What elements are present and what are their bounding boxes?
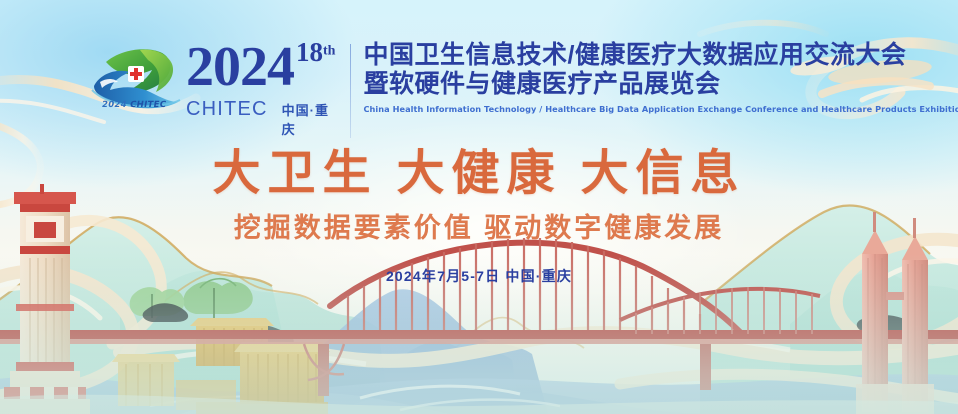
slogan-sub: 挖掘数据要素价值 驱动数字健康发展 bbox=[0, 212, 958, 244]
chitec-logo: 2024 CHITEC bbox=[86, 40, 182, 128]
date-location: 2024年7月5-7日 中国·重庆 bbox=[0, 266, 958, 286]
banner-header: 2024 CHITEC 2024 18th CHITEC 中国·重庆 中国卫生信… bbox=[86, 40, 958, 138]
year-number: 2024 bbox=[186, 42, 294, 92]
slogan-block: 大卫生 大健康 大信息 挖掘数据要素价值 驱动数字健康发展 bbox=[0, 146, 958, 244]
brand-cn: 中国·重庆 bbox=[282, 100, 336, 138]
title-line-1: 中国卫生信息技术/健康医疗大数据应用交流大会 bbox=[363, 41, 958, 70]
header-divider bbox=[350, 44, 352, 138]
logo-caption-name: CHITEC bbox=[129, 100, 167, 110]
year-block: 2024 18th CHITEC 中国·重庆 bbox=[186, 40, 336, 138]
title-english: China Health Information Technology / He… bbox=[363, 104, 958, 114]
logo-caption: 2024 CHITEC bbox=[87, 100, 181, 110]
edition-number: 18 bbox=[296, 37, 323, 67]
slogan-main: 大卫生 大健康 大信息 bbox=[0, 146, 958, 202]
conference-banner: 2024 CHITEC 2024 18th CHITEC 中国·重庆 中国卫生信… bbox=[0, 0, 958, 414]
logo-caption-year: 2024 bbox=[101, 100, 128, 110]
brand-en: CHITEC bbox=[186, 98, 268, 121]
edition-suffix: th bbox=[323, 44, 335, 59]
edition-superscript: 18th bbox=[296, 40, 335, 66]
conference-title-block: 中国卫生信息技术/健康医疗大数据应用交流大会 暨软硬件与健康医疗产品展览会 Ch… bbox=[363, 40, 958, 114]
title-line-2: 暨软硬件与健康医疗产品展览会 bbox=[363, 70, 958, 99]
